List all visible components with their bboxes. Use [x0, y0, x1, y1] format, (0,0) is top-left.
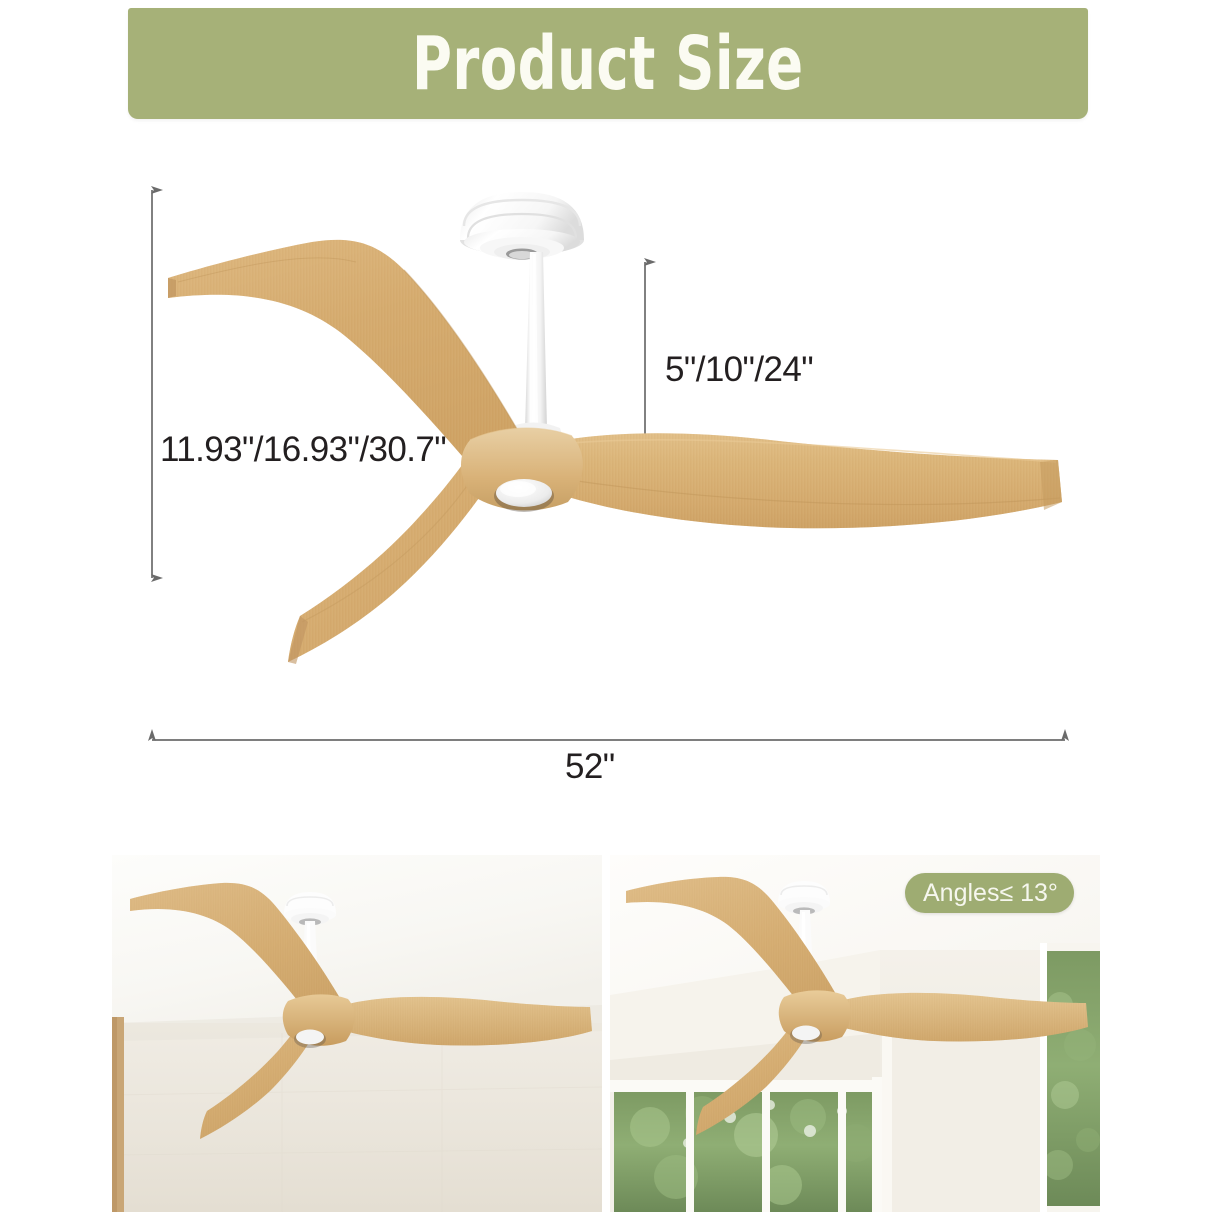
ceiling-canopy: [460, 192, 584, 260]
height-dimension-label: 11.93"/16.93"/30.7": [160, 432, 446, 467]
fan-blade-right: [528, 433, 1062, 528]
fan-hub: [461, 428, 583, 512]
downrod: [525, 252, 547, 430]
downrod-dimension-label: 5"/10"/24": [665, 352, 813, 387]
canopy-right: [778, 881, 830, 915]
fan-blade-lower-left: [288, 448, 490, 664]
product-dimension-diagram: 11.93"/16.93"/30.7" 5"/10"/24" 52": [0, 130, 1212, 830]
lifestyle-photo-right: Angles≤ 13°: [610, 855, 1100, 1212]
angles-badge-label: Angles≤ 13°: [923, 881, 1058, 906]
lifestyle-photo-left: [112, 855, 602, 1212]
page-title: Product Size: [412, 27, 804, 101]
angles-badge: Angles≤ 13°: [905, 873, 1074, 913]
canopy-left: [284, 892, 336, 926]
room-scene-left: [112, 855, 602, 1212]
fan-technical-drawing: [0, 130, 1212, 830]
width-dimension-label: 52": [565, 749, 615, 784]
product-size-banner: Product Size: [128, 8, 1088, 119]
lifestyle-photo-row: Angles≤ 13°: [0, 855, 1212, 1212]
